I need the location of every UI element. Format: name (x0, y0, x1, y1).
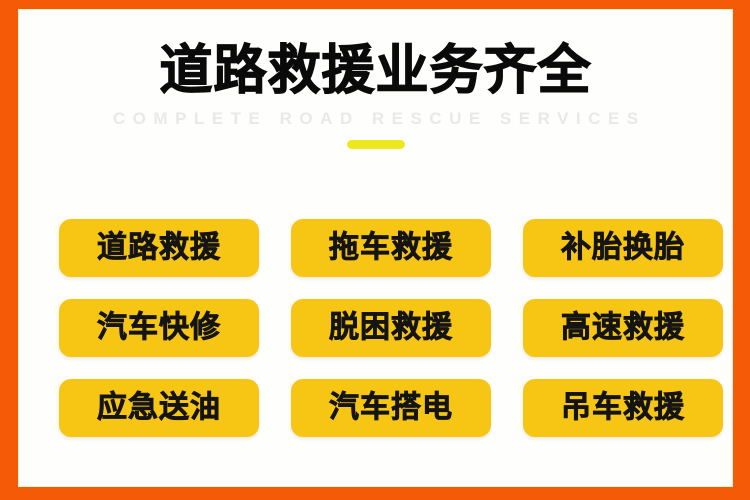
service-chip-label: 吊车救援 (561, 392, 685, 424)
service-chip[interactable]: 脱困救援 (291, 299, 491, 357)
page-subtitle: COMPLETE ROAD RESCUE SERVICES (18, 109, 733, 129)
service-chip[interactable]: 汽车快修 (59, 299, 259, 357)
service-chip-grid: 道路救援 拖车救援 补胎换胎 汽车快修 脱困救援 高速救援 应急送油 汽车搭电 (59, 219, 723, 437)
service-chip-label: 脱困救援 (329, 312, 453, 344)
poster-root: 道路救援业务齐全 COMPLETE ROAD RESCUE SERVICES 道… (0, 0, 750, 500)
poster-header: 道路救援业务齐全 COMPLETE ROAD RESCUE SERVICES (18, 43, 733, 149)
service-chip-label: 补胎换胎 (561, 232, 685, 264)
service-chip[interactable]: 吊车救援 (523, 379, 723, 437)
page-title: 道路救援业务齐全 (18, 43, 733, 99)
service-chip-label: 高速救援 (561, 312, 685, 344)
accent-bar-divider (347, 140, 405, 149)
service-chip[interactable]: 拖车救援 (291, 219, 491, 277)
service-chip[interactable]: 补胎换胎 (523, 219, 723, 277)
service-chip-label: 汽车快修 (97, 312, 221, 344)
poster-inner-card: 道路救援业务齐全 COMPLETE ROAD RESCUE SERVICES 道… (18, 9, 733, 487)
service-chip[interactable]: 汽车搭电 (291, 379, 491, 437)
service-chip[interactable]: 高速救援 (523, 299, 723, 357)
service-chip-label: 道路救援 (97, 232, 221, 264)
service-chip-label: 汽车搭电 (329, 392, 453, 424)
service-chip[interactable]: 应急送油 (59, 379, 259, 437)
service-chip-label: 应急送油 (97, 392, 221, 424)
service-chip-label: 拖车救援 (329, 232, 453, 264)
service-chip[interactable]: 道路救援 (59, 219, 259, 277)
